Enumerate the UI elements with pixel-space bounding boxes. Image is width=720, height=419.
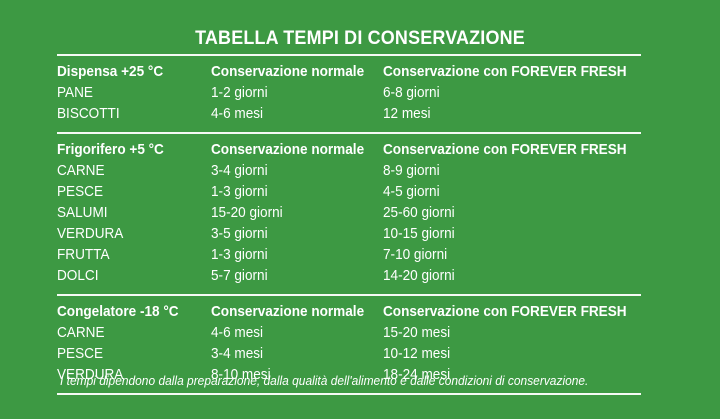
- section-header-label: Congelatore -18 °C: [57, 302, 200, 323]
- preservation-times-poster: TABELLA TEMPI DI CONSERVAZIONE Dispensa …: [0, 0, 720, 419]
- divider-footer: [57, 393, 641, 395]
- section-header-row: Frigorifero +5 °C Conservazione normale …: [57, 140, 641, 161]
- forever-fresh-duration: 8-9 giorni: [383, 161, 623, 182]
- table-row: PESCE 3-4 mesi 10-12 mesi: [57, 344, 641, 365]
- section-frigorifero: Frigorifero +5 °C Conservazione normale …: [57, 134, 641, 294]
- table-row: CARNE 3-4 giorni 8-9 giorni: [57, 161, 641, 182]
- food-name: SALUMI: [57, 203, 200, 224]
- section-header-row: Congelatore -18 °C Conservazione normale…: [57, 302, 641, 323]
- food-name: PANE: [57, 83, 200, 104]
- normal-duration: 3-4 giorni: [211, 161, 371, 182]
- section-header-label: Dispensa +25 °C: [57, 62, 200, 83]
- table-row: PESCE 1-3 giorni 4-5 giorni: [57, 182, 641, 203]
- column-header-forever-fresh: Conservazione con FOREVER FRESH: [383, 302, 623, 323]
- food-name: CARNE: [57, 323, 200, 344]
- normal-duration: 4-6 mesi: [211, 323, 371, 344]
- forever-fresh-duration: 7-10 giorni: [383, 245, 623, 266]
- normal-duration: 5-7 giorni: [211, 266, 371, 287]
- forever-fresh-duration: 10-15 giorni: [383, 224, 623, 245]
- normal-duration: 3-5 giorni: [211, 224, 371, 245]
- table-row: VERDURA 3-5 giorni 10-15 giorni: [57, 224, 641, 245]
- normal-duration: 4-6 mesi: [211, 104, 371, 125]
- food-name: FRUTTA: [57, 245, 200, 266]
- column-header-forever-fresh: Conservazione con FOREVER FRESH: [383, 62, 623, 83]
- section-header-row: Dispensa +25 °C Conservazione normale Co…: [57, 62, 641, 83]
- column-header-normal: Conservazione normale: [211, 62, 371, 83]
- food-name: VERDURA: [57, 224, 200, 245]
- normal-duration: 1-2 giorni: [211, 83, 371, 104]
- normal-duration: 1-3 giorni: [211, 182, 371, 203]
- food-name: DOLCI: [57, 266, 200, 287]
- forever-fresh-duration: 6-8 giorni: [383, 83, 623, 104]
- forever-fresh-duration: 14-20 giorni: [383, 266, 623, 287]
- preservation-table: Dispensa +25 °C Conservazione normale Co…: [57, 54, 641, 395]
- normal-duration: 15-20 giorni: [211, 203, 371, 224]
- divider-top: [57, 54, 641, 56]
- footer-disclaimer: I tempi dipendono dalla preparazione, da…: [60, 374, 615, 388]
- table-row: SALUMI 15-20 giorni 25-60 giorni: [57, 203, 641, 224]
- divider-section-1: [57, 132, 641, 134]
- column-header-normal: Conservazione normale: [211, 140, 371, 161]
- forever-fresh-duration: 4-5 giorni: [383, 182, 623, 203]
- normal-duration: 3-4 mesi: [211, 344, 371, 365]
- section-dispensa: Dispensa +25 °C Conservazione normale Co…: [57, 56, 641, 132]
- food-name: CARNE: [57, 161, 200, 182]
- section-header-label: Frigorifero +5 °C: [57, 140, 200, 161]
- table-row: CARNE 4-6 mesi 15-20 mesi: [57, 323, 641, 344]
- column-header-forever-fresh: Conservazione con FOREVER FRESH: [383, 140, 623, 161]
- table-row: DOLCI 5-7 giorni 14-20 giorni: [57, 266, 641, 287]
- food-name: PESCE: [57, 344, 200, 365]
- normal-duration: 1-3 giorni: [211, 245, 371, 266]
- divider-section-2: [57, 294, 641, 296]
- column-header-normal: Conservazione normale: [211, 302, 371, 323]
- table-row: PANE 1-2 giorni 6-8 giorni: [57, 83, 641, 104]
- forever-fresh-duration: 12 mesi: [383, 104, 623, 125]
- forever-fresh-duration: 10-12 mesi: [383, 344, 623, 365]
- forever-fresh-duration: 15-20 mesi: [383, 323, 623, 344]
- food-name: BISCOTTI: [57, 104, 200, 125]
- food-name: PESCE: [57, 182, 200, 203]
- table-row: BISCOTTI 4-6 mesi 12 mesi: [57, 104, 641, 125]
- table-row: FRUTTA 1-3 giorni 7-10 giorni: [57, 245, 641, 266]
- page-title: TABELLA TEMPI DI CONSERVAZIONE: [29, 27, 691, 50]
- forever-fresh-duration: 25-60 giorni: [383, 203, 623, 224]
